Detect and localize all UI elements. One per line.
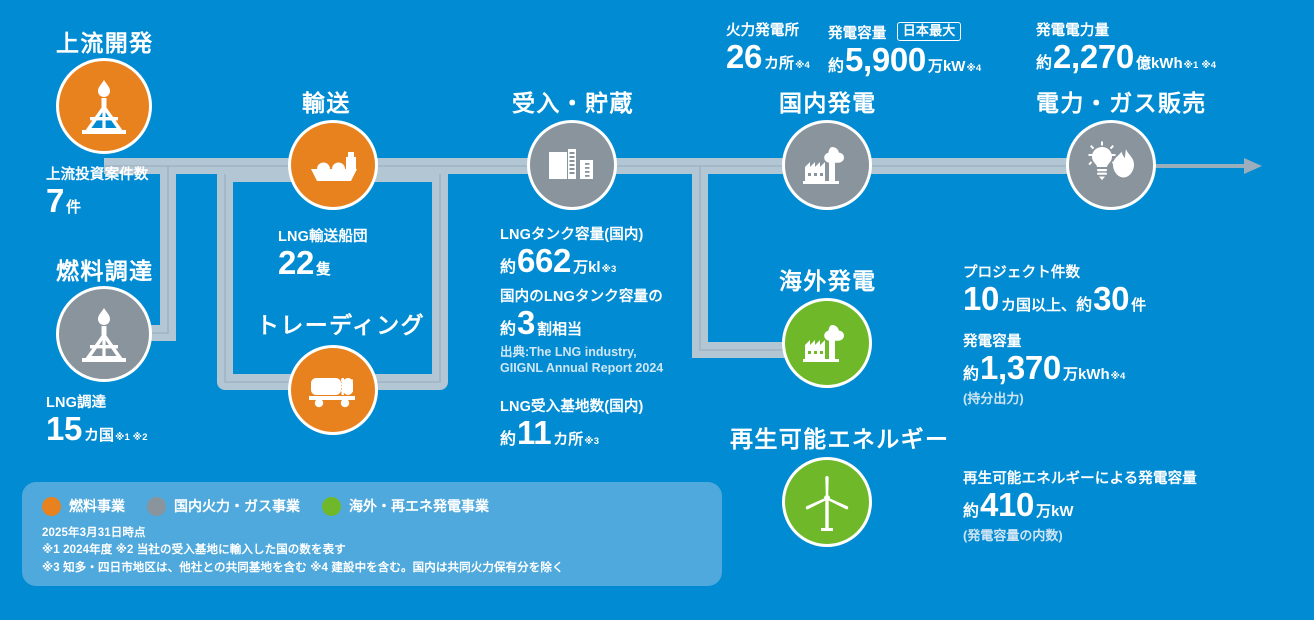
footnote-date: 2025年3月31日時点	[42, 525, 702, 542]
node-label-renewable: 再生可能エネルギー	[730, 420, 949, 454]
terminal-count-value: 11	[517, 416, 551, 451]
node-procurement[interactable]	[56, 286, 152, 382]
stat-lng-sourcing: LNG調達 15 カ国 ※1 ※2	[46, 394, 148, 447]
tanker-truck-icon	[288, 345, 378, 435]
stat-overseas-capacity: 発電容量 約 1,370 万kWh ※4 (持分出力)	[963, 333, 1126, 407]
footnote-3-4: ※3 知多・四日市地区は、他社との共同基地を含む ※4 建設中を含む。国内は共同…	[42, 560, 702, 577]
stat-renewable-capacity: 再生可能エネルギーによる発電容量 約 410 万kW (発電容量の内数)	[963, 470, 1197, 544]
node-label-upstream: 上流開発	[56, 24, 154, 58]
upstream-projects-value: 7	[46, 184, 64, 219]
node-domestic-power[interactable]	[782, 120, 872, 210]
stat-thermal-plants: 火力発電所 26 カ所 ※4	[726, 22, 810, 75]
stat-terminal-count: LNG受入基地数(国内) 約 11 カ所 ※3	[500, 398, 644, 451]
legend-dot-orange-icon	[42, 497, 61, 516]
node-sales[interactable]	[1066, 120, 1156, 210]
node-transport[interactable]	[288, 120, 378, 210]
renewable-capacity-value: 410	[980, 488, 1034, 523]
stat-generated-energy: 発電電力量 約 2,270 億kWh ※1 ※4	[1036, 22, 1216, 75]
generation-capacity-value: 5,900	[845, 43, 926, 78]
legend-item-fuel: 燃料事業	[42, 496, 125, 516]
oil-derrick-icon	[56, 58, 152, 154]
infographic-value-chain: .pOut{fill:none;stroke:#B3C6D4;stroke-wi…	[0, 0, 1314, 620]
node-upstream[interactable]	[56, 58, 152, 154]
thermal-plants-value: 26	[726, 40, 762, 75]
stat-generation-capacity: 発電容量 日本最大 約 5,900 万kW ※4	[828, 22, 981, 78]
tank-share-value: 3	[517, 306, 535, 341]
node-overseas-power[interactable]	[782, 298, 872, 388]
node-receiving[interactable]	[527, 120, 617, 210]
largest-in-japan-badge: 日本最大	[897, 22, 962, 41]
legend-item-domestic: 国内火力・ガス事業	[147, 496, 300, 516]
legend-dot-green-icon	[322, 497, 341, 516]
node-label-transport: 輸送	[302, 84, 351, 118]
node-label-trading: トレーディング	[256, 306, 425, 340]
lng-tank-terminal-icon	[527, 120, 617, 210]
overseas-countries-value: 10	[963, 282, 999, 317]
generated-energy-value: 2,270	[1053, 40, 1134, 75]
lng-carrier-ship-icon	[288, 120, 378, 210]
legend-panel: 燃料事業 国内火力・ガス事業 海外・再エネ発電事業 2025年3月31日時点 ※…	[22, 482, 722, 586]
power-plant-icon	[782, 298, 872, 388]
overseas-capacity-value: 1,370	[980, 351, 1061, 386]
node-label-domestic-power: 国内発電	[779, 84, 877, 118]
legend-label-overseas: 海外・再エネ発電事業	[349, 496, 489, 516]
lng-sourcing-value: 15	[46, 412, 82, 447]
legend-items: 燃料事業 国内火力・ガス事業 海外・再エネ発電事業	[42, 496, 702, 516]
legend-dot-gray-icon	[147, 497, 166, 516]
node-trading[interactable]	[288, 345, 378, 435]
stat-upstream-projects: 上流投資案件数 7 件	[46, 166, 149, 219]
node-label-overseas-power: 海外発電	[779, 262, 877, 296]
node-label-receiving: 受入・貯蔵	[512, 84, 634, 118]
legend-label-domestic: 国内火力・ガス事業	[174, 496, 300, 516]
renewable-capacity-note: (発電容量の内数)	[963, 525, 1197, 544]
legend-item-overseas: 海外・再エネ発電事業	[322, 496, 489, 516]
footnote-1-2: ※1 2024年度 ※2 当社の受入基地に輸入した国の数を表す	[42, 542, 702, 559]
stat-tank-share: 国内のLNGタンク容量の 約 3 割相当 出典:The LNG industry…	[500, 288, 663, 376]
stat-overseas-projects: プロジェクト件数 10 カ国以上、 約 30 件	[963, 264, 1146, 317]
overseas-capacity-note: (持分出力)	[963, 388, 1126, 407]
oil-derrick-icon	[56, 286, 152, 382]
tank-share-source: 出典:The LNG industry, GIIGNL Annual Repor…	[500, 344, 663, 377]
node-label-sales: 電力・ガス販売	[1036, 84, 1207, 118]
stat-lng-fleet: LNG輸送船団 22 隻	[278, 228, 368, 281]
lng-fleet-value: 22	[278, 246, 314, 281]
node-label-procurement: 燃料調達	[56, 252, 154, 286]
bulb-flame-icon	[1066, 120, 1156, 210]
legend-label-fuel: 燃料事業	[69, 496, 125, 516]
tank-capacity-value: 662	[517, 244, 571, 279]
stat-tank-capacity: LNGタンク容量(国内) 約 662 万kl ※3	[500, 226, 644, 279]
node-renewable[interactable]	[782, 457, 872, 547]
overseas-projects-value: 30	[1093, 282, 1129, 317]
wind-turbine-icon	[782, 457, 872, 547]
power-plant-icon	[782, 120, 872, 210]
